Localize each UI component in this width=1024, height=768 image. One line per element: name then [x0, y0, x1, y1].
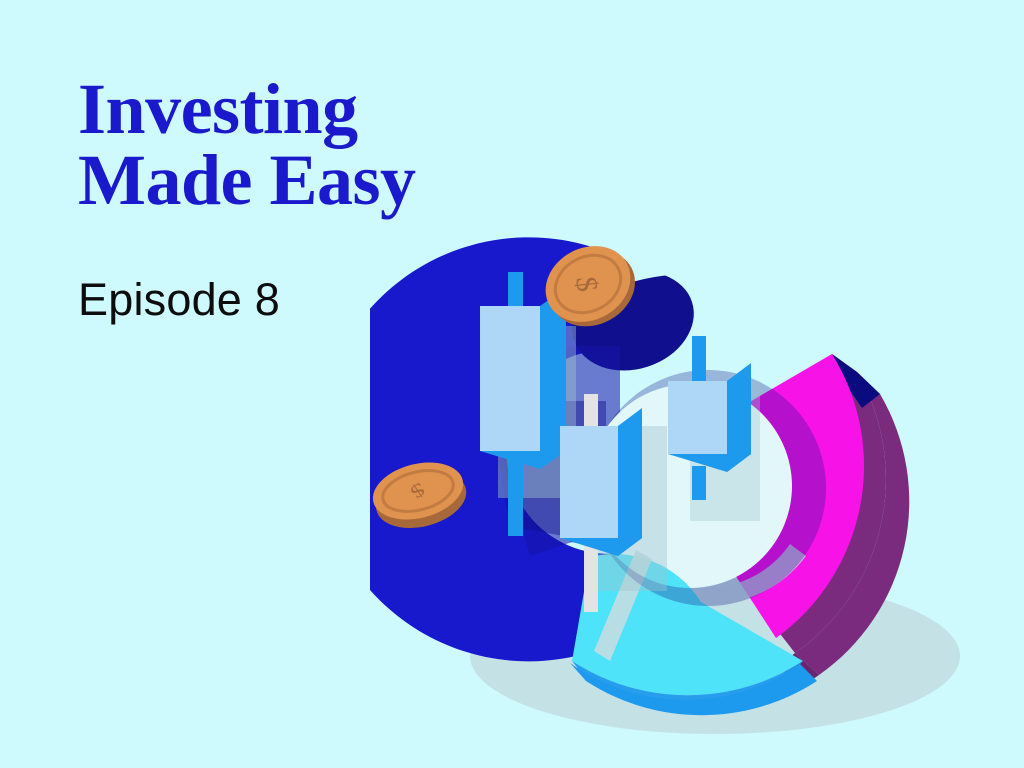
candlestick-right-body — [668, 381, 727, 454]
candlestick-middle-body — [560, 426, 618, 538]
slide-canvas: Investing Made Easy Episode 8 — [0, 0, 1024, 768]
candlestick-left-wick-bottom — [508, 454, 523, 536]
donut-chart-illustration: $ $ — [370, 226, 1010, 756]
candlestick-middle-wick-bottom — [584, 544, 598, 612]
page-title: Investing Made Easy — [78, 74, 548, 217]
candlestick-right-wick-bottom — [692, 466, 706, 500]
candlestick-left-body — [480, 306, 540, 451]
